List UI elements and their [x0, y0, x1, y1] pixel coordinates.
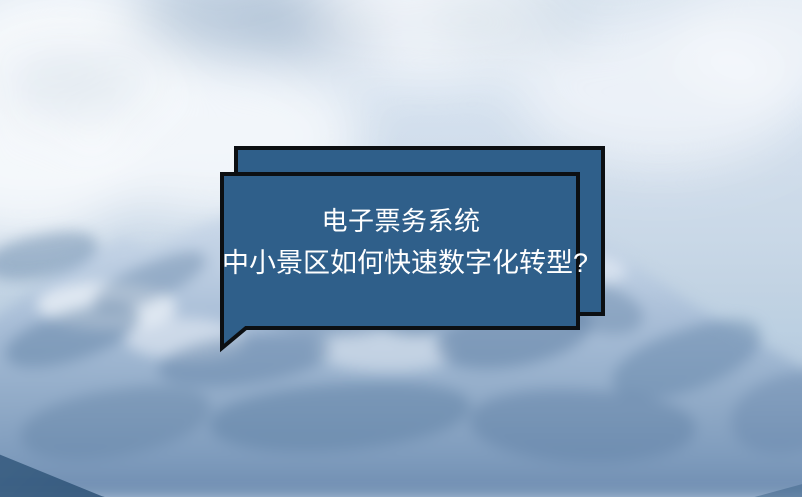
cloud-shadow [237, 1, 391, 63]
headline-line-2: 中小景区如何快速数字化转型? [222, 242, 580, 284]
screenshot-canvas: 电子票务系统 中小景区如何快速数字化转型? [0, 0, 802, 497]
speech-bubble-headline: 电子票务系统 中小景区如何快速数字化转型? [222, 200, 580, 284]
headline-line-1: 电子票务系统 [222, 200, 580, 242]
cloud-shadow [0, 50, 151, 118]
